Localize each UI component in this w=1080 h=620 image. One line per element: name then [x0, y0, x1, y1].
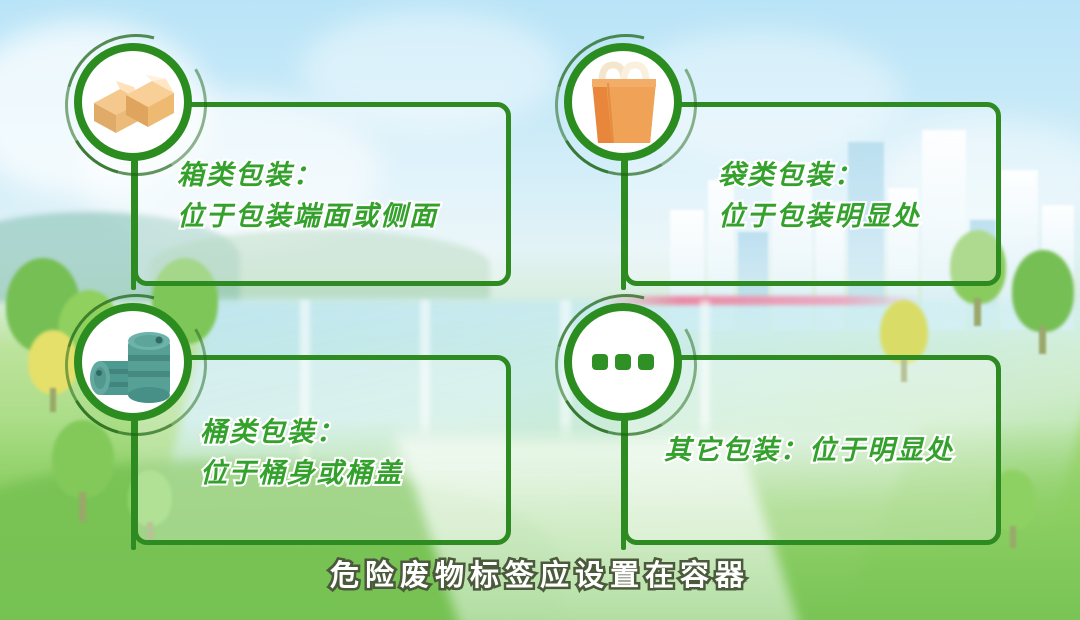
icon-circle-drum[interactable] — [74, 303, 192, 421]
connector-stem-other — [621, 420, 626, 550]
icon-circle-box[interactable] — [74, 43, 192, 161]
card-bag-detail: 位于包装明显处 — [718, 196, 921, 237]
barrel-drum-icon — [74, 303, 192, 421]
card-other-text: 其它包装：位于明显处 — [664, 430, 954, 471]
card-drum-detail: 位于桶身或桶盖 — [200, 453, 403, 494]
card-box-title: 箱类包装： — [177, 155, 438, 196]
card-drum-text: 桶类包装： 位于桶身或桶盖 — [200, 412, 403, 494]
connector-stem-bag — [621, 160, 626, 290]
icon-circle-other[interactable] — [564, 303, 682, 421]
tree-shape — [1012, 250, 1074, 354]
cardboard-box-icon — [74, 43, 192, 161]
tree-shape — [52, 420, 114, 522]
paper-bag-icon — [564, 43, 682, 161]
card-bag-title: 袋类包装： — [718, 155, 921, 196]
infographic-poster: 箱类包装： 位于包装端面或侧面 — [0, 0, 1080, 620]
icon-circle-bag[interactable] — [564, 43, 682, 161]
ellipsis-dots-icon — [564, 303, 682, 421]
card-box-text: 箱类包装： 位于包装端面或侧面 — [177, 155, 438, 237]
connector-stem-drum — [131, 420, 136, 550]
bottom-caption: 危险废物标签应设置在容器 — [0, 552, 1080, 594]
card-drum-title: 桶类包装： — [200, 412, 403, 453]
connector-stem-box — [131, 160, 136, 290]
card-box-detail: 位于包装端面或侧面 — [177, 196, 438, 237]
card-other-title: 其它包装：位于明显处 — [664, 430, 954, 471]
card-bag-text: 袋类包装： 位于包装明显处 — [718, 155, 921, 237]
